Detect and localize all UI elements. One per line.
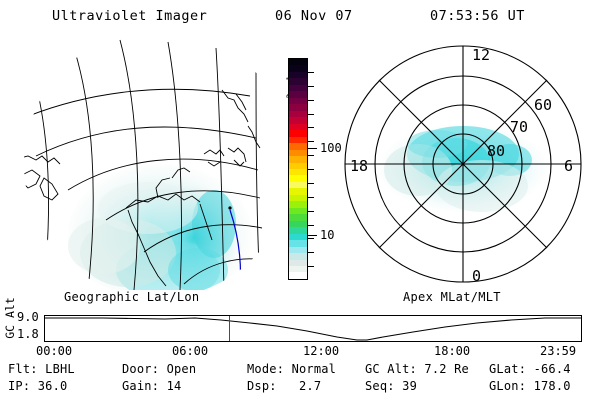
observation-date: 06 Nov 07 [275,8,353,24]
time-tick-4: 23:59 [540,344,576,358]
mlt-label-18: 18 [350,157,368,175]
status-row: Flt: LBHL Door: Open Mode: Normal GC Alt… [0,362,600,380]
mlat-label-70: 70 [510,118,528,136]
gc-alt-max-label: 9.0 [17,310,39,324]
status-glat: GLat: -66.4 [489,362,571,376]
uvi-display-window: Ultraviolet Imager 06 Nov 07 07:53:56 UT [0,0,600,400]
mlt-label-6: 6 [564,157,573,175]
mlat-label-80: 80 [487,142,505,160]
status-door: Door: Open [122,362,196,376]
status-seq: Seq: 39 [365,379,417,393]
status-filter: Flt: LBHL [8,362,75,376]
colorbar-tick [308,197,314,198]
colorbar-major-tick [308,148,317,149]
colorbar-tick [308,211,314,212]
colorbar-tick [308,100,314,101]
header-bar: Ultraviolet Imager 06 Nov 07 07:53:56 UT [0,4,600,28]
status-dsp: Dsp: 2.7 [247,379,321,393]
apex-mlt-polar-panel: 12 6 0 18 60 70 80 [332,38,594,290]
mlt-label-0: 0 [472,267,481,285]
instrument-title: Ultraviolet Imager [52,8,207,24]
apex-panel-title: Apex MLat/MLT [403,290,501,304]
colorbar-tick [308,127,314,128]
status-block: Flt: LBHL Door: Open Mode: Normal GC Alt… [0,362,600,400]
colorbar-gradient [288,58,308,280]
colorbar-tick [308,252,314,253]
colorbar-tick [308,141,314,142]
subsatellite-point [228,206,231,209]
geographic-map-panel [8,38,266,290]
mlat-label-60: 60 [534,96,552,114]
time-tick-2: 12:00 [303,344,339,358]
status-gain: Gain: 14 [122,379,181,393]
altitude-curve-svg [45,316,581,341]
colorbar-tick [308,114,314,115]
time-axis: 00:00 06:00 12:00 18:00 23:59 [0,344,600,360]
colorbar-tick [308,155,314,156]
colorbar-band [289,272,307,278]
colorbar-panel: photon cm-2s-1 10010 [262,38,334,290]
time-tick-1: 06:00 [172,344,208,358]
colorbar-tick [308,183,314,184]
mlt-dial-svg: 12 6 0 18 60 70 80 [332,38,594,290]
mlt-spokes [345,46,581,282]
current-time-marker [229,316,230,341]
geographic-map-svg [8,38,266,290]
gc-alt-min-label: 1.8 [17,327,39,341]
time-tick-3: 18:00 [434,344,470,358]
orbit-altitude-strip: GC Alt 9.0 1.8 [0,305,600,343]
colorbar-tick [308,225,314,226]
colorbar-tick [308,266,314,267]
status-gc-alt: GC Alt: 7.2 Re [365,362,469,376]
colorbar-tick [308,169,314,170]
colorbar-tick [308,238,314,239]
colorbar-tick [308,86,314,87]
status-row: IP: 36.0 Gain: 14 Dsp: 2.7 Seq: 39 GLon:… [0,379,600,397]
geographic-panel-title: Geographic Lat/Lon [64,290,199,304]
gc-alt-axis-label: GC Alt [3,295,17,341]
colorbar-major-tick [308,235,317,236]
observation-time: 07:53:56 UT [430,8,525,24]
status-ip: IP: 36.0 [8,379,67,393]
status-mode: Mode: Normal [247,362,336,376]
colorbar-tick [308,72,314,73]
altitude-plot-box [44,315,582,342]
time-tick-0: 00:00 [36,344,72,358]
status-glon: GLon: 178.0 [489,379,571,393]
mlt-label-12: 12 [472,46,490,64]
